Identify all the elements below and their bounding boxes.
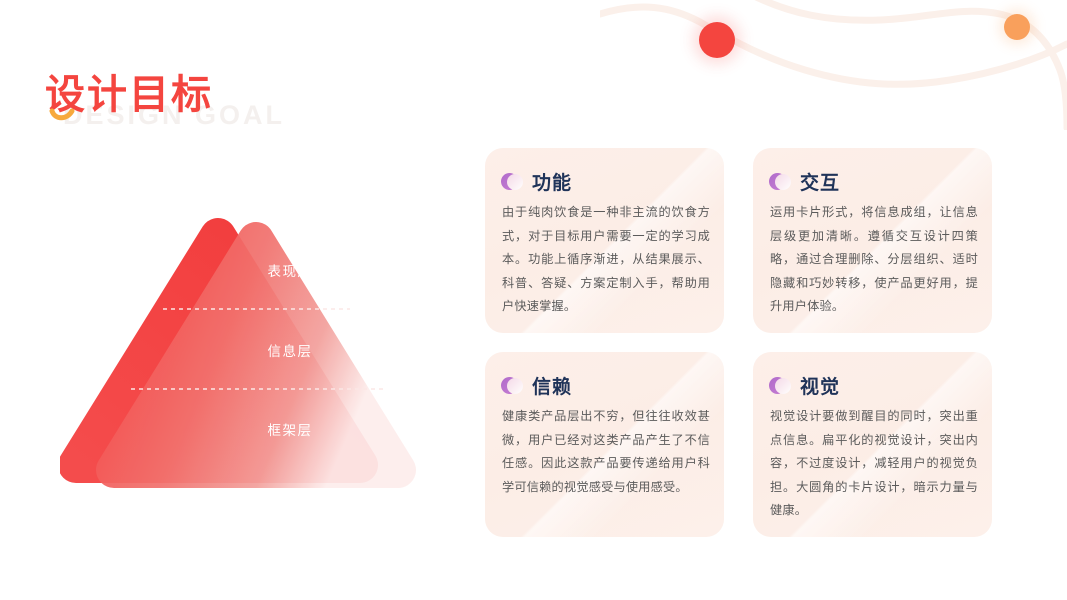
pyramid-layer-label-1: 信息层 (210, 340, 370, 360)
card-body-text: 视觉设计要做到醒目的同时，突出重点信息。扁平化的视觉设计，突出内容，不过度设计，… (770, 405, 978, 523)
decorative-dot-orange (1004, 14, 1030, 40)
card-body-text: 健康类产品层出不穷，但往往收效甚微，用户已经对这类产品产生了不信任感。因此这款产… (502, 405, 710, 499)
card-body-text: 运用卡片形式，将信息成组，让信息层级更加清晰。遵循交互设计四策略，通过合理删除、… (770, 201, 978, 319)
pyramid-layer-label-2: 框架层 (210, 419, 370, 439)
card-title: 功能 (532, 168, 572, 195)
card-title: 交互 (800, 168, 840, 195)
card-header: 交互 (769, 168, 840, 195)
pyramid-diagram: 表现层 信息层 框架层 (60, 180, 470, 490)
info-card-trust[interactable]: 信赖 健康类产品层出不穷，但往往收效甚微，用户已经对这类产品产生了不信任感。因此… (485, 352, 724, 537)
info-card-visual[interactable]: 视觉 视觉设计要做到醒目的同时，突出重点信息。扁平化的视觉设计，突出内容，不过度… (753, 352, 992, 537)
pyramid-layer-label-0: 表现层 (210, 260, 370, 280)
decorative-waves (600, 0, 1067, 130)
info-card-function[interactable]: 功能 由于纯肉饮食是一种非主流的饮食方式，对于目标用户需要一定的学习成本。功能上… (485, 148, 724, 333)
card-header: 信赖 (501, 372, 572, 399)
card-header: 功能 (501, 168, 572, 195)
decorative-dot-red (699, 22, 735, 58)
two-circles-icon (769, 377, 791, 395)
slide-canvas: DESIGN GOAL 设计目标 (0, 0, 1067, 600)
page-title: DESIGN GOAL 设计目标 (45, 62, 465, 132)
card-header: 视觉 (769, 372, 840, 399)
two-circles-icon (501, 173, 523, 191)
card-body-text: 由于纯肉饮食是一种非主流的饮食方式，对于目标用户需要一定的学习成本。功能上循序渐… (502, 201, 710, 319)
info-card-interaction[interactable]: 交互 运用卡片形式，将信息成组，让信息层级更加清晰。遵循交互设计四策略，通过合理… (753, 148, 992, 333)
two-circles-icon (501, 377, 523, 395)
two-circles-icon (769, 173, 791, 191)
card-title: 信赖 (532, 372, 572, 399)
smile-arc-icon (49, 108, 77, 124)
card-title: 视觉 (800, 372, 840, 399)
